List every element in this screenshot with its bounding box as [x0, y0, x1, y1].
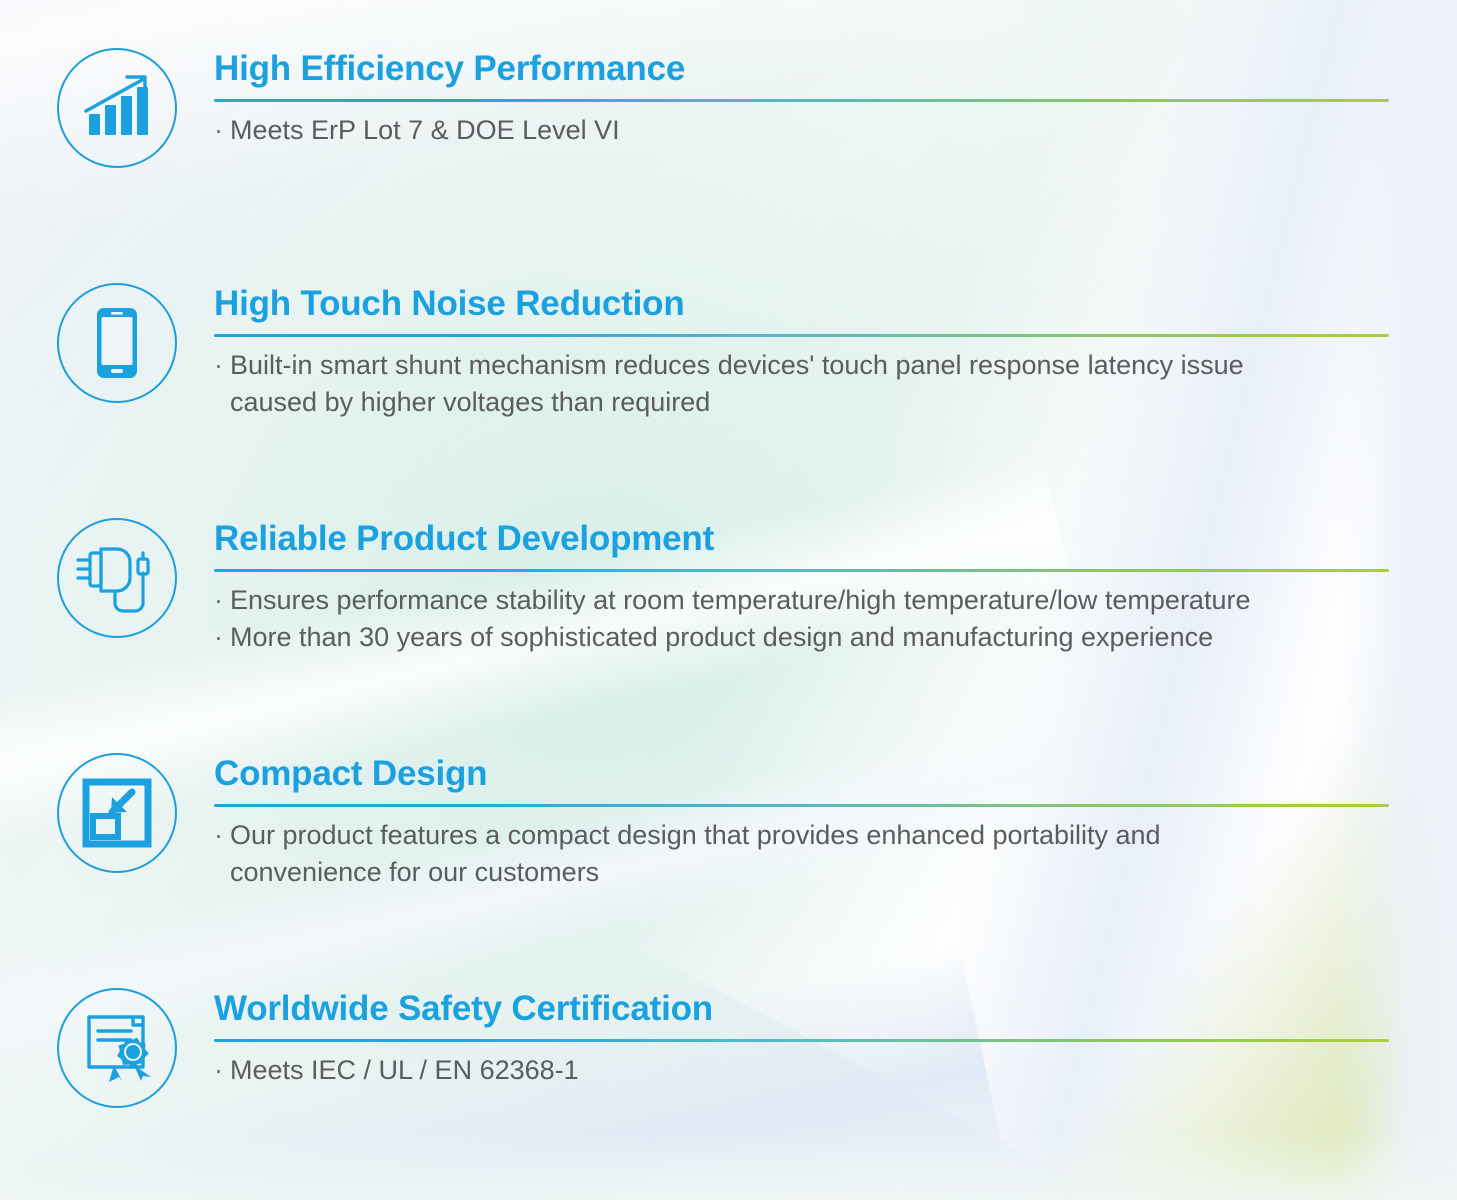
feature-item-high-touch-noise-reduction: High Touch Noise Reduction ·Built-in sma… — [57, 283, 1389, 421]
feature-bullets: ·Meets ErP Lot 7 & DOE Level VI — [214, 112, 1389, 149]
feature-list: High Efficiency Performance ·Meets ErP L… — [0, 0, 1457, 1200]
feature-body: Worldwide Safety Certification ·Meets IE… — [214, 988, 1389, 1089]
feature-divider — [214, 99, 1389, 102]
feature-body: Compact Design ·Our product features a c… — [214, 753, 1389, 891]
bullet-text-continued: convenience for our customers — [214, 854, 1389, 891]
bullet-marker: · — [214, 817, 230, 854]
feature-divider — [214, 1039, 1389, 1042]
bullet-text: Our product features a compact design th… — [230, 820, 1161, 850]
feature-bullets: ·Built-in smart shunt mechanism reduces … — [214, 347, 1389, 421]
feature-item-high-efficiency-performance: High Efficiency Performance ·Meets ErP L… — [57, 48, 1389, 168]
compact-resize-icon — [57, 753, 177, 873]
bullet-marker: · — [214, 347, 230, 384]
bullet-marker: · — [214, 582, 230, 619]
list-item: ·Our product features a compact design t… — [214, 817, 1389, 891]
certificate-seal-icon — [57, 988, 177, 1108]
bullet-text: Built-in smart shunt mechanism reduces d… — [230, 350, 1244, 380]
list-item: ·Meets IEC / UL / EN 62368-1 — [214, 1052, 1389, 1089]
feature-bullets: ·Meets IEC / UL / EN 62368-1 — [214, 1052, 1389, 1089]
feature-bullets: ·Our product features a compact design t… — [214, 817, 1389, 891]
feature-divider — [214, 804, 1389, 807]
feature-body: High Efficiency Performance ·Meets ErP L… — [214, 48, 1389, 149]
feature-body: Reliable Product Development ·Ensures pe… — [214, 518, 1389, 656]
feature-divider — [214, 569, 1389, 572]
bar-chart-growth-icon — [57, 48, 177, 168]
feature-item-compact-design: Compact Design ·Our product features a c… — [57, 753, 1389, 891]
feature-title: High Efficiency Performance — [214, 48, 1389, 90]
bullet-marker: · — [214, 112, 230, 149]
bullet-text: Meets ErP Lot 7 & DOE Level VI — [230, 115, 620, 145]
feature-divider — [214, 334, 1389, 337]
feature-title: High Touch Noise Reduction — [214, 283, 1389, 325]
feature-item-reliable-product-development: Reliable Product Development ·Ensures pe… — [57, 518, 1389, 656]
feature-bullets: ·Ensures performance stability at room t… — [214, 582, 1389, 656]
feature-body: High Touch Noise Reduction ·Built-in sma… — [214, 283, 1389, 421]
smartphone-icon — [57, 283, 177, 403]
list-item: ·Meets ErP Lot 7 & DOE Level VI — [214, 112, 1389, 149]
bullet-text: Meets IEC / UL / EN 62368-1 — [230, 1055, 579, 1085]
list-item: ·Ensures performance stability at room t… — [214, 582, 1389, 619]
bullet-text: Ensures performance stability at room te… — [230, 585, 1250, 615]
feature-title: Compact Design — [214, 753, 1389, 795]
list-item: ·Built-in smart shunt mechanism reduces … — [214, 347, 1389, 421]
power-adapter-icon — [57, 518, 177, 638]
feature-title: Reliable Product Development — [214, 518, 1389, 560]
bullet-text: More than 30 years of sophisticated prod… — [230, 622, 1213, 652]
feature-item-worldwide-safety-certification: Worldwide Safety Certification ·Meets IE… — [57, 988, 1389, 1108]
list-item: ·More than 30 years of sophisticated pro… — [214, 619, 1389, 656]
bullet-marker: · — [214, 1052, 230, 1089]
bullet-text-continued: caused by higher voltages than required — [214, 384, 1389, 421]
bullet-marker: · — [214, 619, 230, 656]
feature-title: Worldwide Safety Certification — [214, 988, 1389, 1030]
